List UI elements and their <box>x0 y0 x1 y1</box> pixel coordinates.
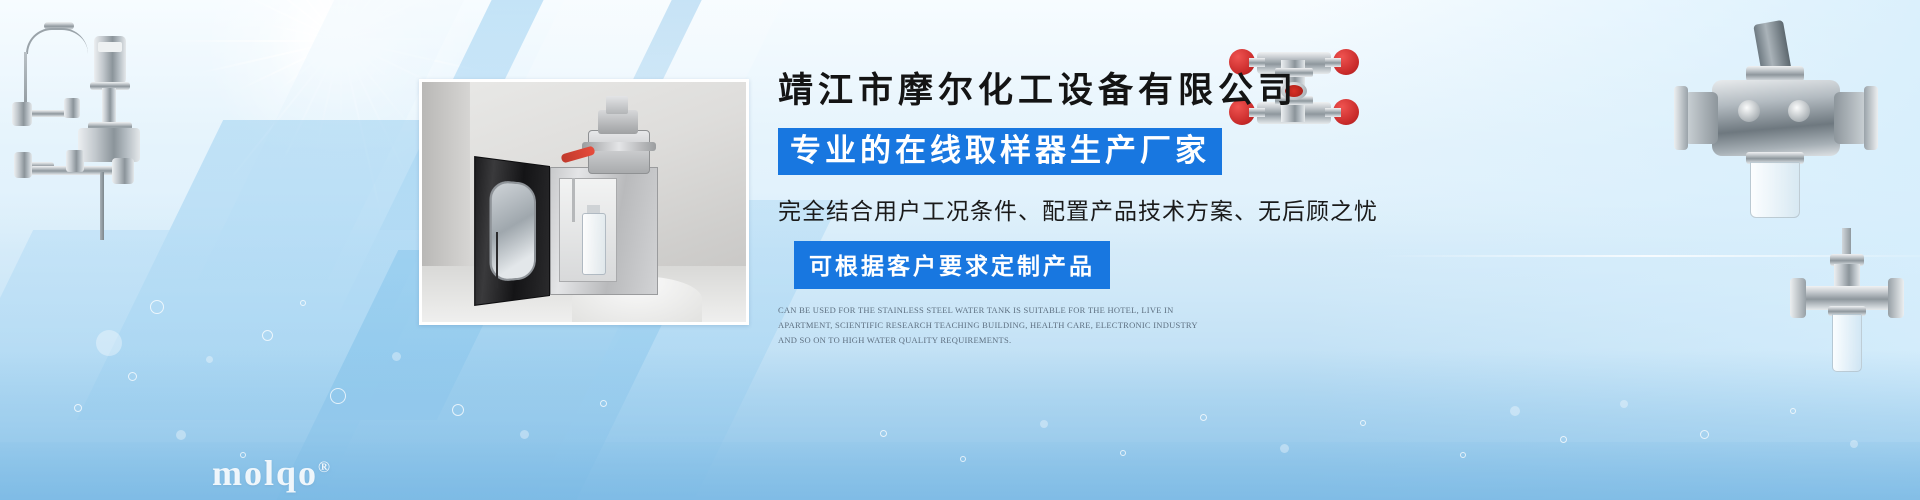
bubble <box>392 352 401 361</box>
photo-sample-bottle <box>582 213 606 275</box>
sunburst-ray <box>158 40 340 42</box>
photo-cable <box>496 232 498 288</box>
bubble <box>96 330 122 356</box>
bubble <box>1460 452 1466 458</box>
bubble <box>1850 440 1858 448</box>
bubble <box>520 430 529 439</box>
bubble <box>1620 400 1628 408</box>
equipment-small-valve-illustration <box>1790 228 1905 388</box>
photo-cabinet-door <box>474 156 550 306</box>
bubble <box>262 330 273 341</box>
bubble <box>1040 420 1048 428</box>
bubble <box>960 456 966 462</box>
bubble <box>176 430 186 440</box>
sunburst-ray <box>340 40 342 120</box>
equipment-large-valve-illustration <box>1650 22 1910 232</box>
bubble <box>330 388 346 404</box>
sunburst-ray <box>237 40 341 91</box>
bubble <box>206 356 213 363</box>
bubble <box>1560 436 1567 443</box>
subheadline-text: 完全结合用户工况条件、配置产品技术方案、无后顾之忧 <box>778 192 1418 226</box>
banner-text-block: 靖江市摩尔化工设备有限公司 专业的在线取样器生产厂家 完全结合用户工况条件、配置… <box>778 72 1418 348</box>
sunburst-ray <box>340 38 454 40</box>
bubble <box>300 300 306 306</box>
bubble <box>600 400 607 407</box>
bubble <box>452 404 464 416</box>
company-name: 靖江市摩尔化工设备有限公司 <box>778 72 1418 111</box>
bubble <box>128 372 137 381</box>
photo-sample-tube <box>572 178 575 222</box>
promotional-banner: 靖江市摩尔化工设备有限公司 专业的在线取样器生产厂家 完全结合用户工况条件、配置… <box>0 0 1920 500</box>
bubble <box>1790 408 1796 414</box>
bubble <box>150 300 164 314</box>
equipment-left-illustration <box>8 22 168 272</box>
bubble <box>1280 444 1289 453</box>
bubble <box>880 430 887 437</box>
product-photo <box>419 79 749 325</box>
watermark-registered-mark: ® <box>318 459 332 476</box>
photo-valve-head <box>588 130 650 174</box>
bubble <box>74 404 82 412</box>
watermark-logo: molqo® <box>212 452 332 494</box>
bubble <box>1700 430 1709 439</box>
photo-cabinet-interior <box>559 178 617 282</box>
bubble <box>1200 414 1207 421</box>
bubble <box>1510 406 1520 416</box>
customization-badge: 可根据客户要求定制产品 <box>794 241 1110 289</box>
english-description: Can be used for the stainless steel wate… <box>778 303 1198 348</box>
photo-valve-stack <box>606 96 628 114</box>
photo-sampler-cabinet <box>550 167 658 295</box>
headline-badge: 专业的在线取样器生产厂家 <box>778 128 1222 175</box>
bubble <box>1360 420 1366 426</box>
watermark-text: molqo <box>212 453 318 493</box>
product-photo-image <box>422 82 746 322</box>
bubble <box>1120 450 1126 456</box>
